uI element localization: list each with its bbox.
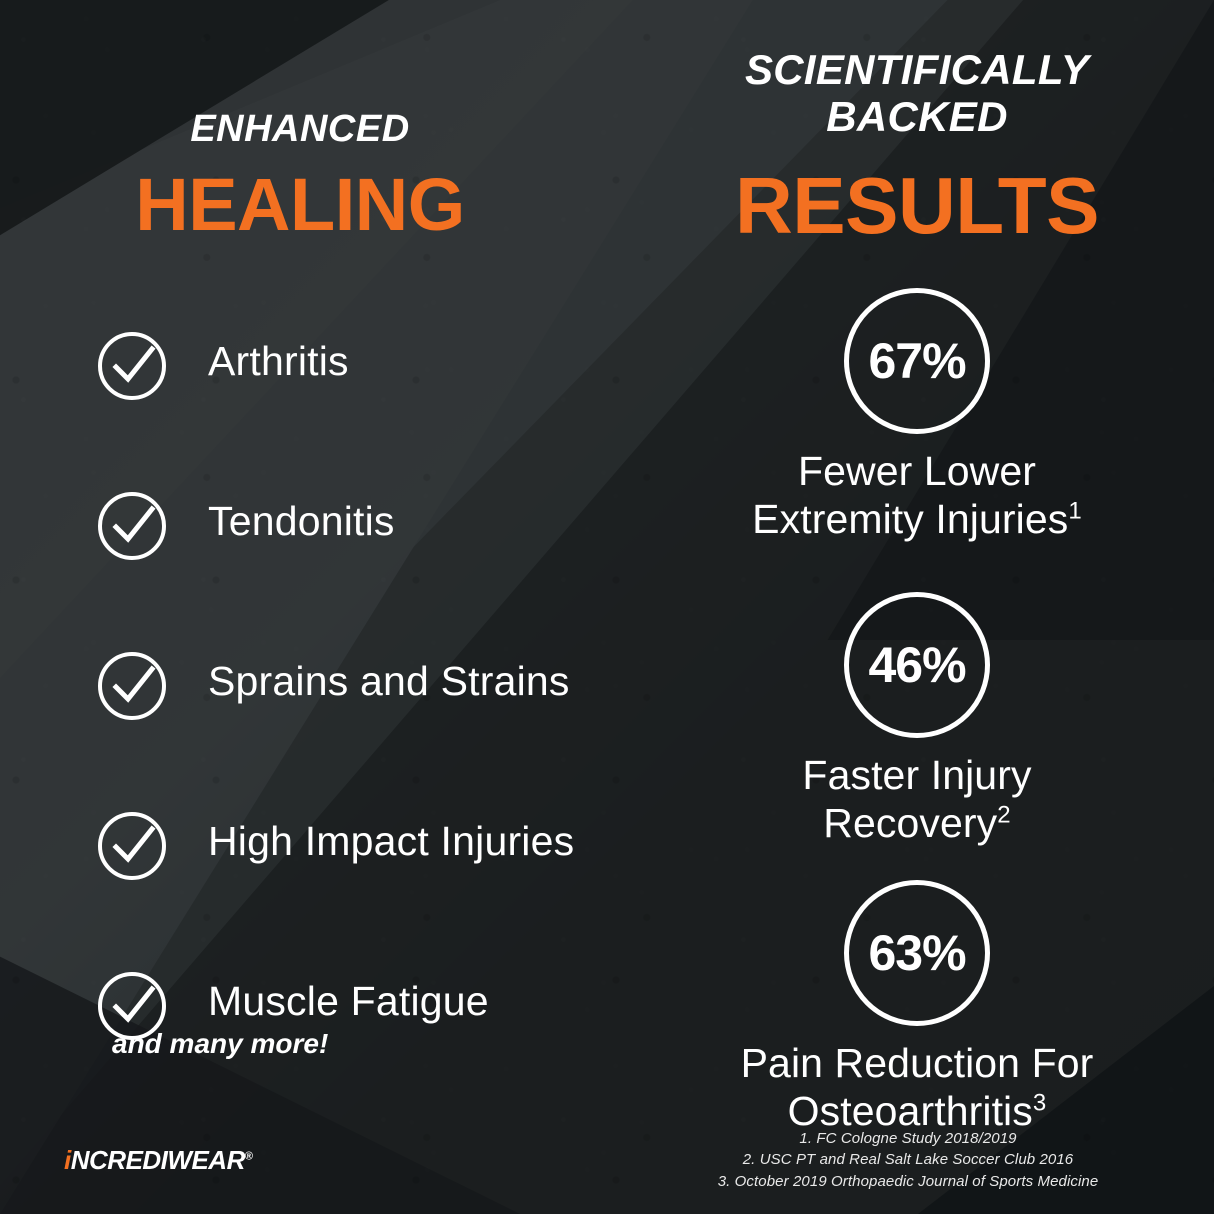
and-many-more-note: and many more! [0,1028,560,1060]
footnote-2: 2. USC PT and Real Salt Lake Soccer Club… [620,1149,1196,1170]
check-circle-icon [96,650,168,722]
right-headline-results: RESULTS [620,160,1214,252]
stat-caption-line-2-text: Osteoarthritis [788,1088,1033,1134]
stat-caption-line-2-text: Recovery [823,800,997,846]
stat-block-pain-reduction-osteoarthritis: 63% Pain Reduction For Osteoarthritis3 [620,880,1214,1135]
stat-footnote-marker: 3 [1033,1089,1046,1116]
enhanced-healing-column: ENHANCED HEALING Arthritis [0,0,640,1214]
stat-footnote-marker: 2 [997,801,1010,828]
stat-caption-line-2: Extremity Injuries1 [620,496,1214,544]
list-item: Arthritis [96,330,656,490]
left-eyebrow-text: ENHANCED [0,108,600,151]
footnote-3: 3. October 2019 Orthopaedic Journal of S… [620,1171,1196,1192]
stat-caption: Fewer Lower Extremity Injuries1 [620,448,1214,543]
condition-checklist: Arthritis Tendonitis [96,330,656,1130]
logo-initial: i [64,1145,71,1175]
stat-circle-icon: 67% [844,288,990,434]
stat-caption: Faster Injury Recovery2 [620,752,1214,847]
checklist-label: Sprains and Strains [208,658,570,705]
stat-caption-line-1: Pain Reduction For [620,1040,1214,1088]
list-item: High Impact Injuries [96,810,656,970]
promo-poster: ENHANCED HEALING Arthritis [0,0,1214,1214]
stat-block-fewer-lower-extremity-injuries: 67% Fewer Lower Extremity Injuries1 [620,288,1214,543]
stat-caption-line-1: Faster Injury [620,752,1214,800]
footnote-citations: 1. FC Cologne Study 2018/2019 2. USC PT … [620,1128,1196,1192]
right-eyebrow-text: SCIENTIFICALLY BACKED [620,46,1214,140]
check-circle-icon [96,330,168,402]
scientifically-backed-results-column: SCIENTIFICALLY BACKED RESULTS 67% Fewer … [620,0,1214,1214]
stat-footnote-marker: 1 [1068,497,1081,524]
list-item: Sprains and Strains [96,650,656,810]
logo-wordmark: NCREDIWEAR [71,1145,245,1175]
stat-caption-line-1: Fewer Lower [620,448,1214,496]
list-item: Tendonitis [96,490,656,650]
stat-percentage-value: 67% [844,288,990,434]
footnote-1: 1. FC Cologne Study 2018/2019 [620,1128,1196,1149]
stat-caption: Pain Reduction For Osteoarthritis3 [620,1040,1214,1135]
stat-circle-icon: 46% [844,592,990,738]
stat-caption-line-2: Recovery2 [620,800,1214,848]
checklist-label: Arthritis [208,338,349,385]
right-eyebrow-line-2: BACKED [620,93,1214,140]
stat-block-faster-injury-recovery: 46% Faster Injury Recovery2 [620,592,1214,847]
stat-caption-line-2-text: Extremity Injuries [752,496,1068,542]
checklist-label: Muscle Fatigue [208,978,489,1025]
registered-trademark-icon: ® [245,1150,253,1162]
checklist-label: High Impact Injuries [208,818,574,865]
check-circle-icon [96,810,168,882]
left-headline-healing: HEALING [0,166,600,244]
stat-percentage-value: 46% [844,592,990,738]
check-circle-icon [96,490,168,562]
stat-percentage-value: 63% [844,880,990,1026]
stat-circle-icon: 63% [844,880,990,1026]
incrediwear-logo: iNCREDIWEAR® [64,1145,252,1176]
checklist-label: Tendonitis [208,498,395,545]
right-eyebrow-line-1: SCIENTIFICALLY [620,46,1214,93]
